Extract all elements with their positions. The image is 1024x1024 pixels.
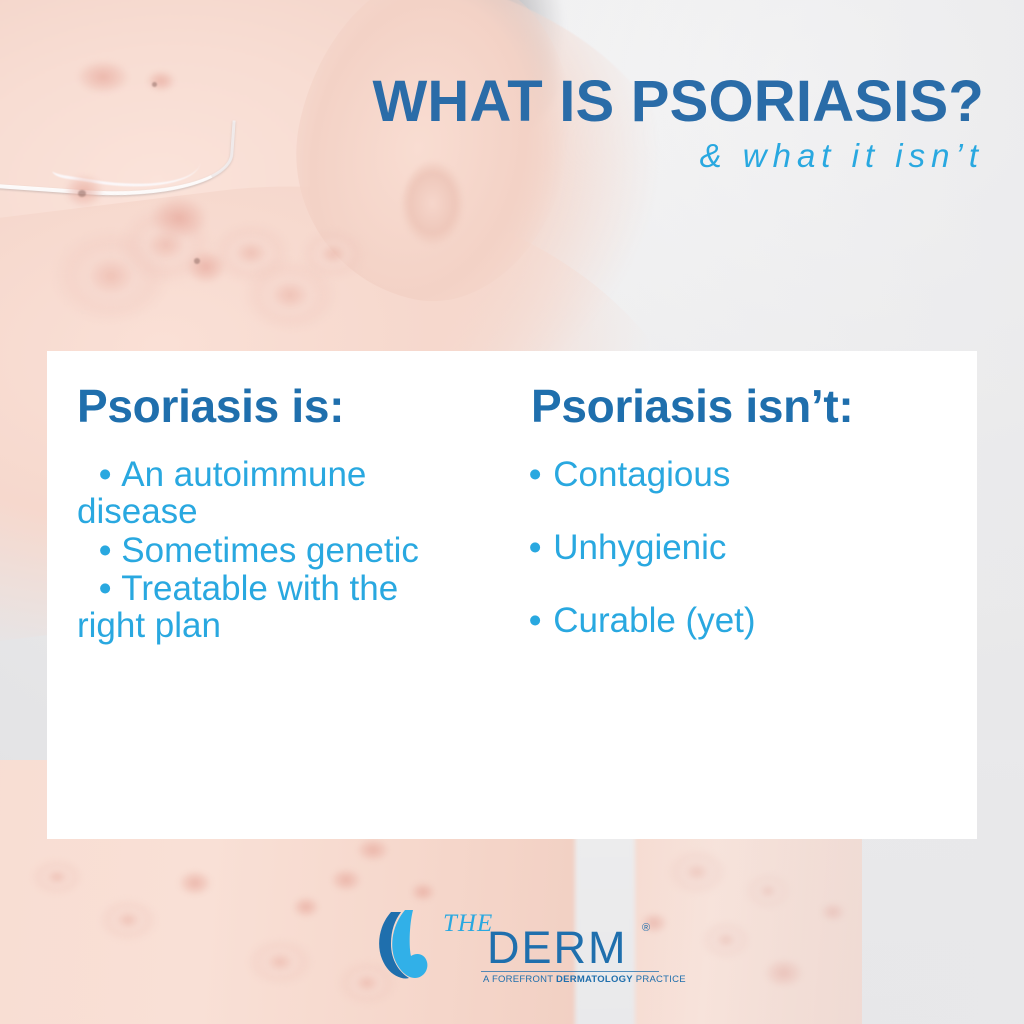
bullet-dot-icon: • bbox=[529, 601, 541, 640]
logo-tagline: A FOREFRONT DERMATOLOGY PRACTICE bbox=[483, 974, 661, 985]
infographic-canvas: WHAT IS PSORIASIS? & what it isn’t Psori… bbox=[0, 0, 1024, 1024]
logo-divider bbox=[481, 971, 659, 972]
header: WHAT IS PSORIASIS? & what it isn’t bbox=[0, 72, 984, 175]
bullet-dot-icon: • bbox=[529, 455, 541, 494]
column-heading: Psoriasis is: bbox=[77, 379, 507, 433]
page-subtitle: & what it isn’t bbox=[0, 137, 984, 175]
bullet-dot-icon: • bbox=[529, 528, 541, 567]
column-psoriasis-isnt: Psoriasis isn’t: •Contagious •Unhygienic… bbox=[517, 351, 977, 839]
logo-derm-text: DERM bbox=[487, 922, 628, 974]
logo-tagline-bold: DERMATOLOGY bbox=[556, 974, 633, 985]
page-title: WHAT IS PSORIASIS? bbox=[0, 72, 984, 131]
comparison-card: Psoriasis is: •An autoimmune disease •So… bbox=[47, 351, 977, 839]
list-item: •An autoimmune disease bbox=[77, 457, 422, 531]
logo-tagline-suffix: PRACTICE bbox=[633, 974, 686, 985]
list-item-label: Contagious bbox=[553, 455, 730, 494]
column-psoriasis-is: Psoriasis is: •An autoimmune disease •So… bbox=[47, 351, 517, 839]
bullet-dot-icon: • bbox=[99, 455, 111, 494]
bullet-list-is: •An autoimmune disease •Sometimes geneti… bbox=[77, 457, 507, 645]
registered-trademark-icon: ® bbox=[642, 922, 650, 934]
list-item-label: Unhygienic bbox=[553, 528, 726, 567]
list-item-label: Sometimes genetic bbox=[121, 531, 419, 570]
list-item: •Unhygienic bbox=[529, 530, 967, 567]
list-item: •Curable (yet) bbox=[529, 603, 967, 640]
list-item-label: Curable (yet) bbox=[553, 601, 755, 640]
bullet-list-isnt: •Contagious •Unhygienic •Curable (yet) bbox=[529, 457, 967, 639]
brand-logo[interactable]: THE DERM ® A FOREFRONT DERMATOLOGY PRACT… bbox=[375, 908, 650, 990]
logo-the-text: THE bbox=[443, 910, 493, 938]
column-heading: Psoriasis isn’t: bbox=[529, 379, 967, 433]
logo-tagline-prefix: A FOREFRONT bbox=[483, 974, 556, 985]
bullet-dot-icon: • bbox=[99, 569, 111, 608]
bullet-dot-icon: • bbox=[99, 531, 111, 570]
the-derm-leaf-mark-icon bbox=[375, 908, 437, 982]
list-item: •Sometimes genetic bbox=[77, 533, 422, 570]
list-item-label: An autoimmune disease bbox=[77, 455, 366, 531]
list-item: •Contagious bbox=[529, 457, 967, 494]
list-item-label: Treatable with the right plan bbox=[77, 569, 398, 645]
list-item: •Treatable with the right plan bbox=[77, 571, 422, 645]
